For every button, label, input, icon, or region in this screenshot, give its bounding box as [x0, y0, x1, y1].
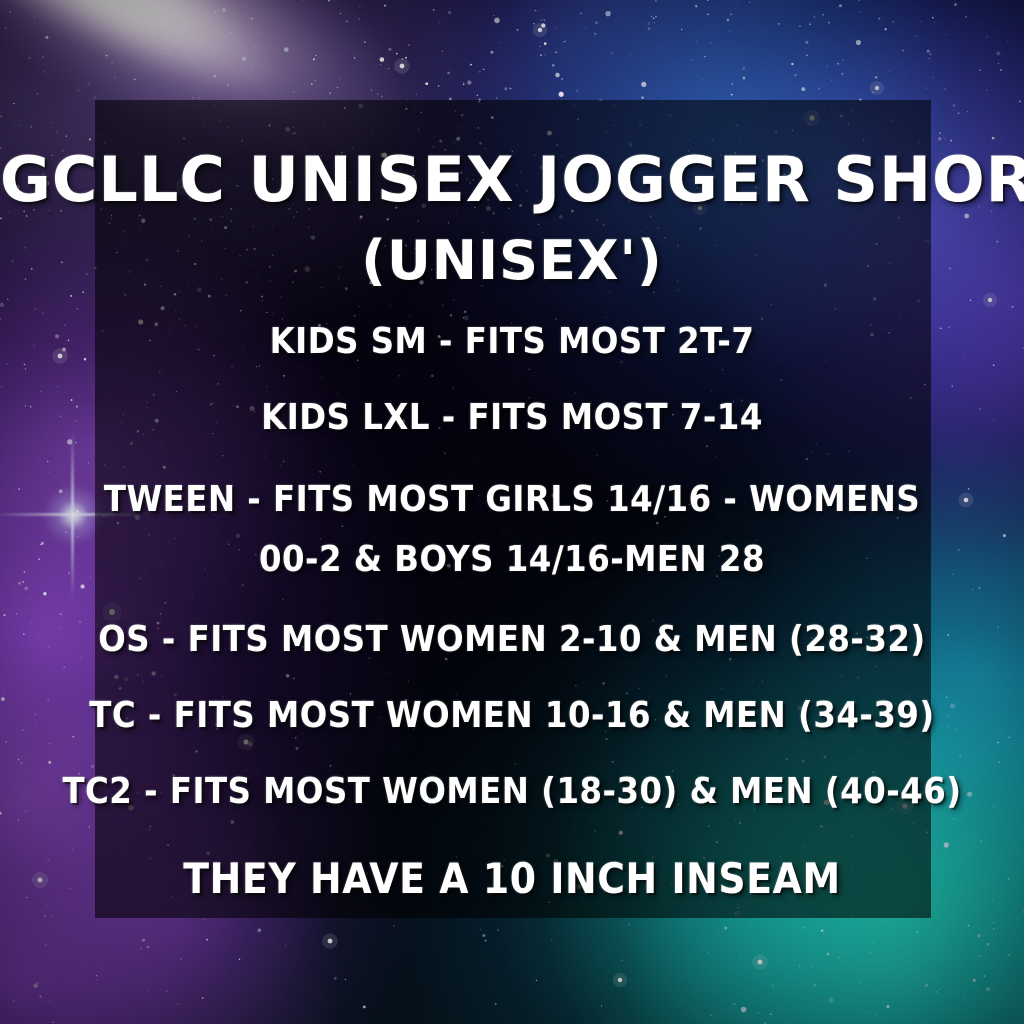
size-line-tc: TC - FITS MOST WOMEN 10-16 & MEN (34-39)	[89, 692, 934, 740]
size-line-os: OS - FITS MOST WOMEN 2-10 & MEN (28-32)	[98, 616, 925, 664]
size-chart-graphic: GCLLC UNISEX JOGGER SHORTS (UNISEX') KID…	[0, 0, 1024, 1024]
size-line-tween: TWEEN - FITS MOST GIRLS 14/16 - WOMENS 0…	[72, 470, 952, 590]
size-line-tc2: TC2 - FITS MOST WOMEN (18-30) & MEN (40-…	[62, 768, 961, 816]
inseam-note: THEY HAVE A 10 INCH INSEAM	[183, 852, 840, 906]
title-block: GCLLC UNISEX JOGGER SHORTS (UNISEX')	[0, 138, 1024, 300]
size-chart-content: GCLLC UNISEX JOGGER SHORTS (UNISEX') KID…	[0, 0, 1024, 1024]
page-subtitle: (UNISEX')	[0, 222, 1024, 300]
size-line-kids-sm: KIDS SM - FITS MOST 2T-7	[270, 318, 755, 366]
size-line-kids-lxl: KIDS LXL - FITS MOST 7-14	[261, 394, 763, 442]
size-list: KIDS SM - FITS MOST 2T-7 KIDS LXL - FITS…	[0, 318, 1024, 844]
page-title: GCLLC UNISEX JOGGER SHORTS	[0, 138, 1024, 222]
